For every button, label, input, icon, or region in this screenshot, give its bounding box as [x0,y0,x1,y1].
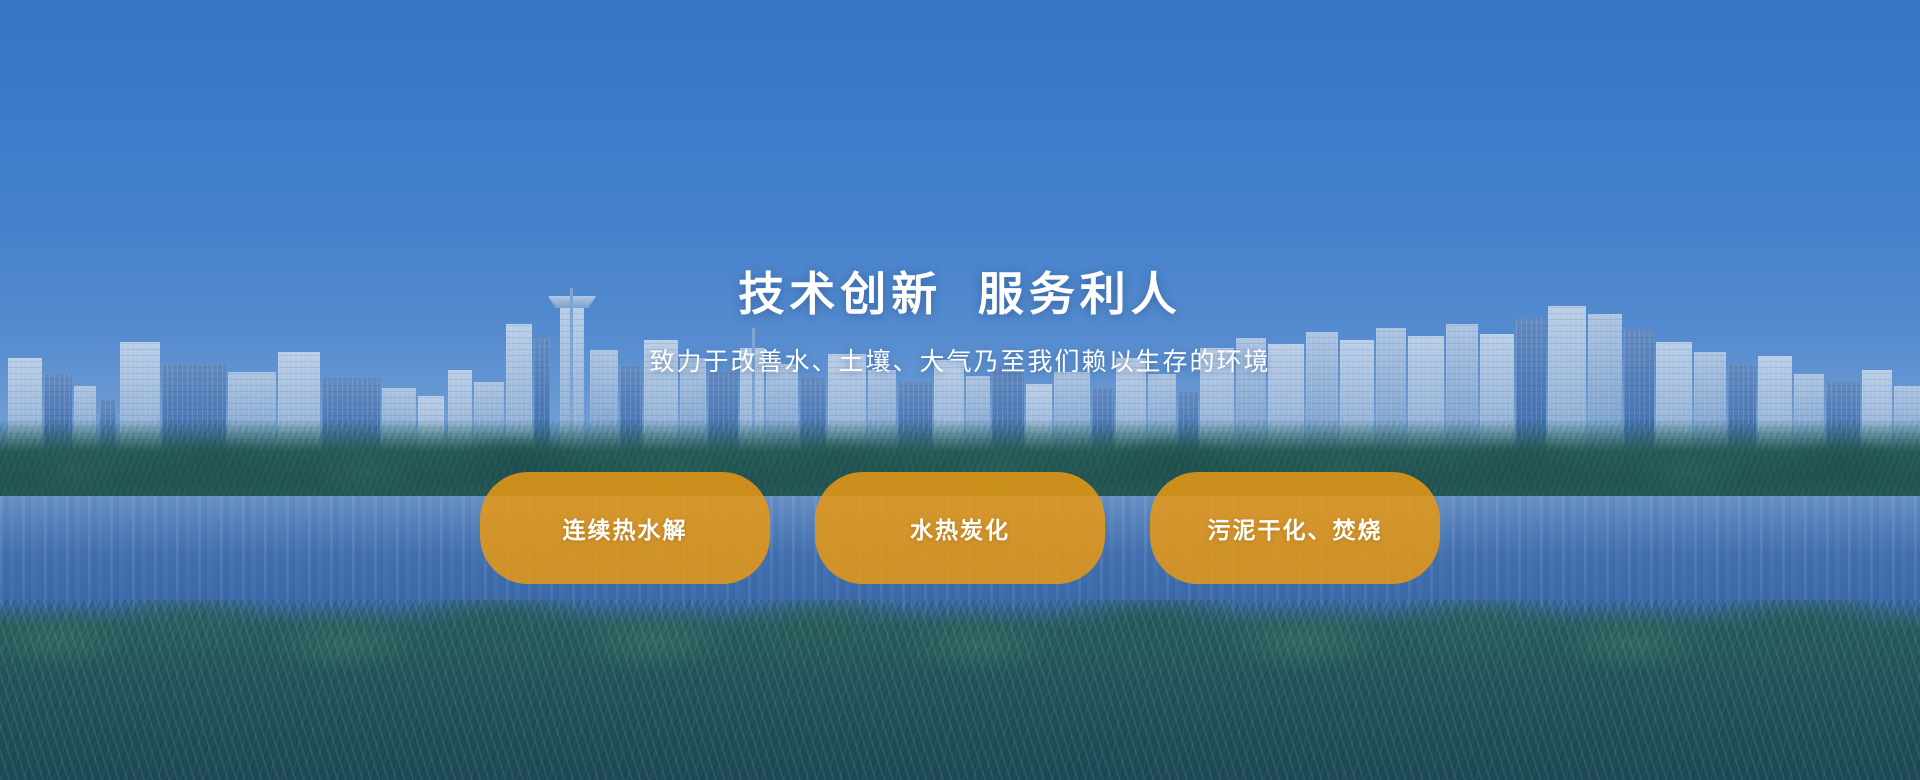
service-button-hydrothermal-carbonization[interactable]: 水热炭化 [815,472,1105,584]
service-button-label: 污泥干化、焚烧 [1208,511,1383,545]
service-button-sludge-drying-incineration[interactable]: 污泥干化、焚烧 [1150,472,1440,584]
service-button-label: 连续热水解 [563,511,688,545]
hero-banner: 技术创新 服务利人 致力于改善水、土壤、大气乃至我们赖以生存的环境 连续热水解 … [0,0,1920,780]
service-button-continuous-thermal-hydrolysis[interactable]: 连续热水解 [480,472,770,584]
service-button-row: 连续热水解 水热炭化 污泥干化、焚烧 [0,472,1920,584]
foreground-vegetation [0,600,1920,780]
foreground-texture [0,600,1920,780]
service-button-label: 水热炭化 [910,511,1010,545]
